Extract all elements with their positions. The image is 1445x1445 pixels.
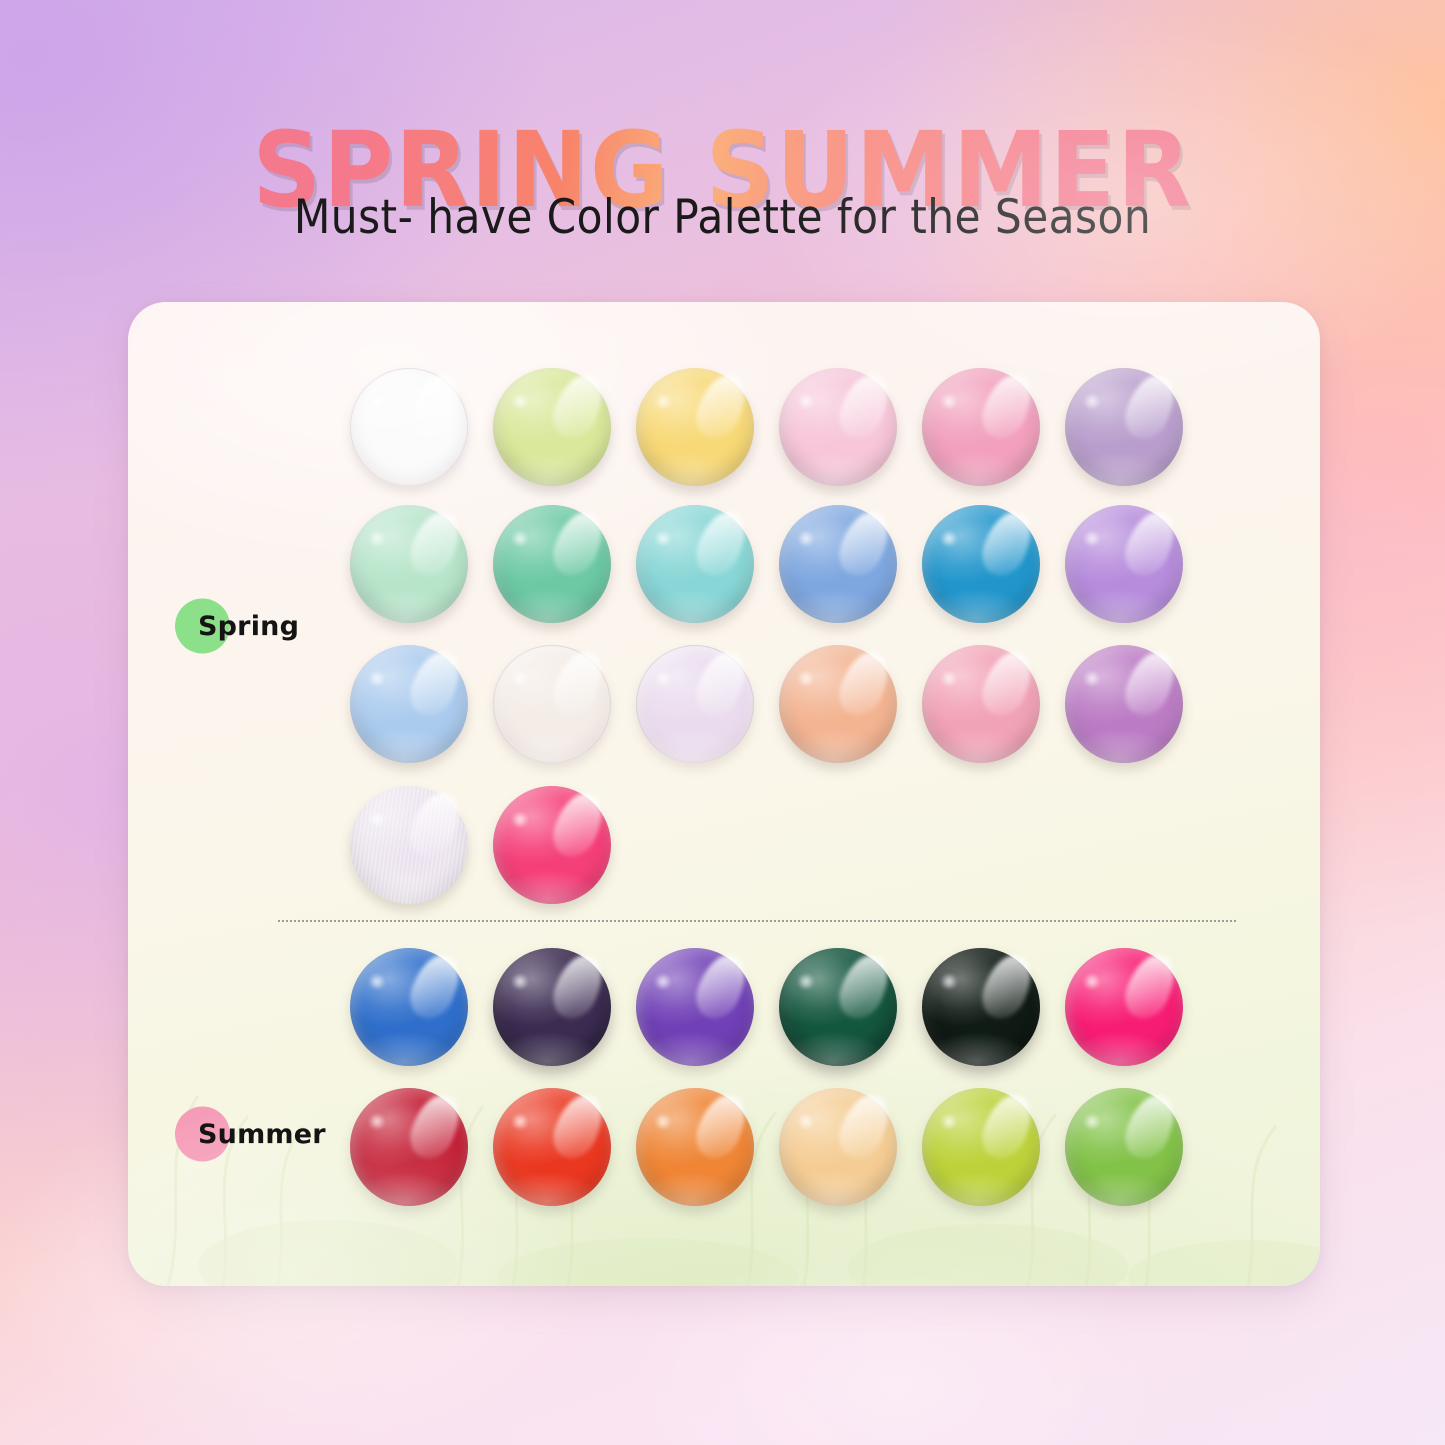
season-badge-summer[interactable]: Summer	[175, 1105, 326, 1163]
swatch-fill	[350, 786, 468, 904]
swatch-fill	[493, 368, 611, 486]
color-swatch-baby-pink[interactable]	[779, 368, 897, 486]
swatch-fill	[636, 1088, 754, 1206]
color-swatch-clear-white[interactable]	[350, 368, 468, 486]
color-swatch-rose-pink[interactable]	[922, 645, 1040, 763]
color-swatch-ivory-cream[interactable]	[493, 645, 611, 763]
swatch-fill	[779, 368, 897, 486]
season-label-spring: Spring	[198, 611, 299, 642]
color-swatch-dark-eggplant[interactable]	[493, 948, 611, 1066]
color-swatch-hot-pink[interactable]	[493, 786, 611, 904]
color-swatch-deep-teal-green[interactable]	[779, 948, 897, 1066]
swatch-fill	[1065, 505, 1183, 623]
swatch-fill	[493, 948, 611, 1066]
color-swatch-iridescent-shimmer[interactable]	[350, 786, 468, 904]
swatch-fill	[493, 645, 611, 763]
color-swatch-apricot-peach[interactable]	[779, 645, 897, 763]
swatch-fill	[922, 1088, 1040, 1206]
swatch-fill	[636, 505, 754, 623]
swatch-fill	[350, 645, 468, 763]
swatch-fill	[636, 948, 754, 1066]
color-swatch-pastel-mint[interactable]	[350, 505, 468, 623]
section-divider	[278, 920, 1236, 922]
season-badge-spring[interactable]: Spring	[175, 597, 299, 655]
swatch-fill	[350, 505, 468, 623]
color-swatch-aqua-turquoise[interactable]	[636, 505, 754, 623]
swatch-fill	[493, 505, 611, 623]
color-swatch-jade-mint[interactable]	[493, 505, 611, 623]
color-swatch-crimson-red[interactable]	[350, 1088, 468, 1206]
swatch-fill	[350, 1088, 468, 1206]
color-swatch-tangerine-orange[interactable]	[636, 1088, 754, 1206]
color-swatch-butter-yellow[interactable]	[636, 368, 754, 486]
swatch-fill	[1065, 948, 1183, 1066]
swatch-fill	[1065, 645, 1183, 763]
swatch-fill	[493, 786, 611, 904]
color-swatch-lime-chartreuse[interactable]	[922, 1088, 1040, 1206]
color-swatch-vivid-cyan-blue[interactable]	[922, 505, 1040, 623]
color-swatch-near-black[interactable]	[922, 948, 1040, 1066]
swatch-fill	[636, 645, 754, 763]
color-swatch-pale-lilac[interactable]	[636, 645, 754, 763]
swatch-fill	[1065, 1088, 1183, 1206]
color-swatch-bright-red-orange[interactable]	[493, 1088, 611, 1206]
swatch-fill	[350, 368, 468, 486]
color-swatch-light-violet[interactable]	[1065, 505, 1183, 623]
color-swatch-magenta-pink[interactable]	[1065, 948, 1183, 1066]
swatch-fill	[779, 645, 897, 763]
swatch-fill	[922, 368, 1040, 486]
swatch-fill	[922, 645, 1040, 763]
swatch-fill	[922, 948, 1040, 1066]
color-swatch-soft-lavender[interactable]	[1065, 368, 1183, 486]
swatch-fill	[350, 948, 468, 1066]
color-swatch-bubblegum-pink[interactable]	[922, 368, 1040, 486]
swatch-fill	[779, 505, 897, 623]
color-swatch-sky-blue[interactable]	[350, 645, 468, 763]
color-swatch-royal-blue[interactable]	[350, 948, 468, 1066]
color-swatch-orchid-purple[interactable]	[1065, 645, 1183, 763]
swatch-fill	[1065, 368, 1183, 486]
swatch-fill	[636, 368, 754, 486]
color-swatch-vivid-purple[interactable]	[636, 948, 754, 1066]
swatch-fill	[779, 1088, 897, 1206]
season-label-summer: Summer	[198, 1119, 326, 1150]
color-swatch-soft-peach-tan[interactable]	[779, 1088, 897, 1206]
color-swatch-cornflower-blue[interactable]	[779, 505, 897, 623]
page-subtitle: Must- have Color Palette for the Season	[72, 190, 1373, 245]
swatch-fill	[922, 505, 1040, 623]
color-swatch-apple-green[interactable]	[1065, 1088, 1183, 1206]
swatch-fill	[493, 1088, 611, 1206]
swatch-fill	[779, 948, 897, 1066]
poster-background: SPRING SUMMER Must- have Color Palette f…	[0, 0, 1445, 1445]
color-swatch-pale-lime[interactable]	[493, 368, 611, 486]
